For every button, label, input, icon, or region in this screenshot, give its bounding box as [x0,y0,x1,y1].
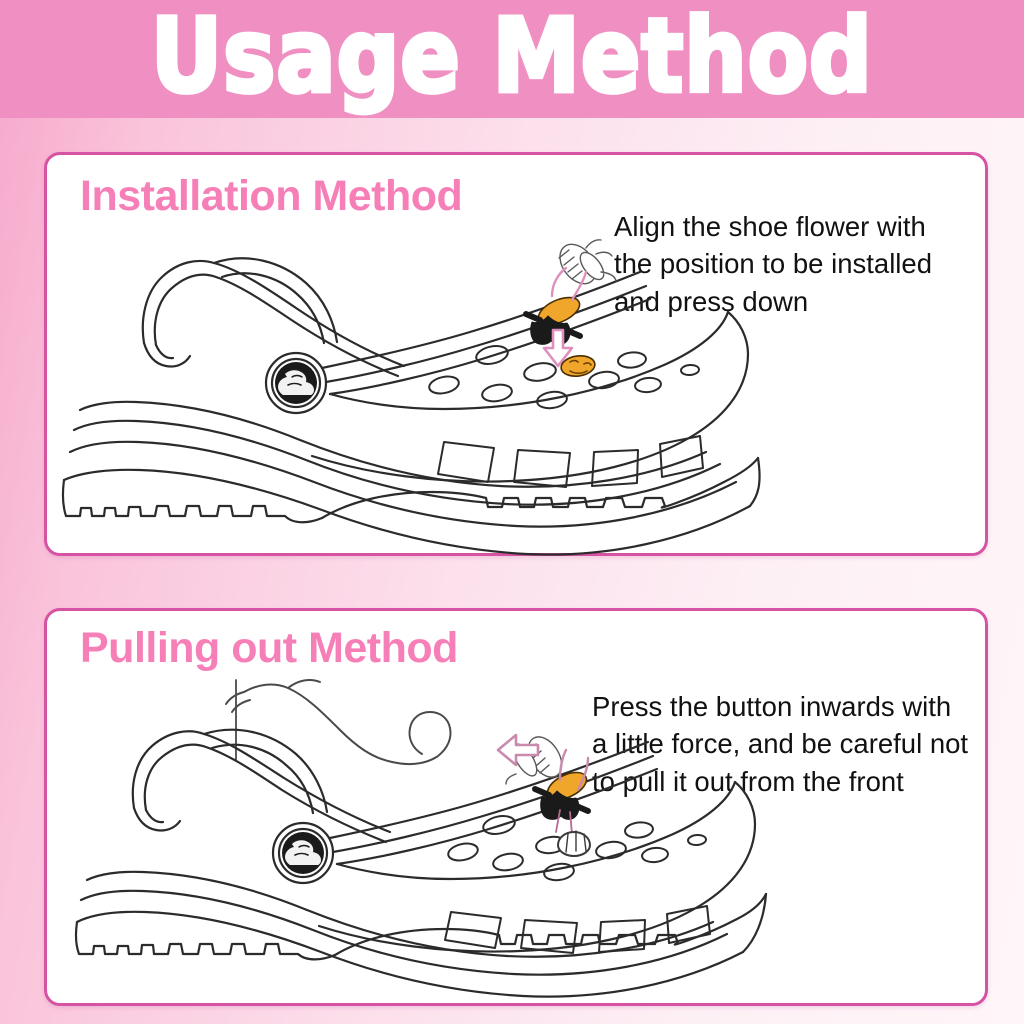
pulling-out-method-title: Pulling out Method [80,624,458,673]
pulling-out-method-note: Press the button inwards with a little f… [592,688,992,800]
page-title: Usage Method [151,6,873,112]
usage-method-infographic: Usage Method Installation Method Align t… [0,0,1024,1024]
installation-method-title: Installation Method [80,172,462,221]
header-banner: Usage Method [0,0,1024,118]
installation-method-note: Align the shoe flower with the position … [614,208,994,320]
